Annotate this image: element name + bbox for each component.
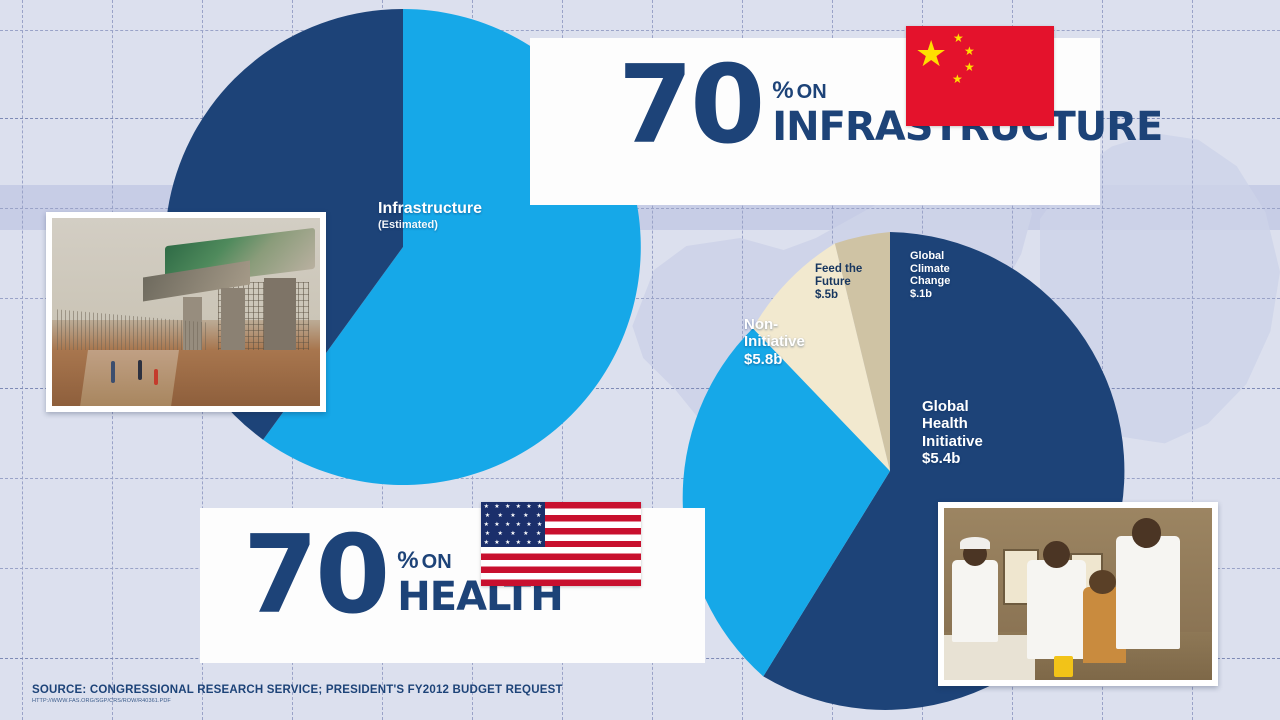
pie-label-gcc-l2: Climate (910, 263, 950, 275)
source-text: SOURCE: CONGRESSIONAL RESEARCH SERVICE; … (32, 684, 563, 696)
stat-infrastructure-on: ON (797, 81, 827, 103)
pie-label-feed-the-future-l2: Future (815, 276, 851, 288)
stat-infrastructure: 70 %ON INFRASTRUCTURE (618, 60, 1162, 153)
pie-label-gcc-value: $.1b (910, 288, 932, 300)
pie-label-ghi-value: $5.4b (922, 450, 960, 467)
infographic-canvas: Infrastructure (Estimated) Non- Initiati… (0, 0, 1280, 720)
china-flag-star-3: ★ (964, 61, 975, 73)
pie-label-global-health-initiative: Global Health Initiative $5.4b (922, 398, 983, 467)
source-credit: SOURCE: CONGRESSIONAL RESEARCH SERVICE; … (32, 684, 563, 704)
china-flag-star-4: ★ (952, 73, 963, 85)
china-flag-star-1: ★ (953, 32, 964, 44)
china-flag-star-2: ★ (964, 45, 975, 57)
pie-label-non-initiative-value: $5.8b (744, 351, 782, 368)
pie-label-feed-the-future-l1: Feed the (815, 263, 862, 275)
pie-label-non-initiative-l1: Non- (744, 316, 778, 333)
pie-label-ghi-l3: Initiative (922, 433, 983, 450)
pie-label-ghi-l1: Global (922, 398, 969, 415)
stat-infrastructure-percent: % (772, 77, 793, 104)
pie-label-ghi-l2: Health (922, 415, 968, 432)
pie-label-infrastructure-title: Infrastructure (378, 200, 482, 217)
pie-label-feed-the-future: Feed the Future $.5b (815, 263, 862, 303)
source-url[interactable]: HTTP://WWW.FAS.ORG/SGP/CRS/ROW/R40361.PD… (32, 698, 563, 704)
stat-health-number: 70 (243, 530, 387, 623)
pie-label-feed-the-future-value: $.5b (815, 289, 838, 301)
health-clinic-image (944, 508, 1212, 680)
health-clinic-photo (938, 502, 1218, 686)
pie-label-non-initiative: Non- Initiative $5.8b (744, 316, 805, 368)
construction-bridge-photo-inner (52, 218, 320, 406)
pie-label-non-initiative-l2: Initiative (744, 333, 805, 350)
china-flag-star-large: ★ (915, 36, 947, 72)
usa-flag: ★★★★★★ ★★★★★ ★★★★★★ ★★★★★ ★★★★★★ (481, 502, 641, 586)
usa-flag-canton: ★★★★★★ ★★★★★ ★★★★★★ ★★★★★ ★★★★★★ (481, 502, 545, 547)
pie-label-gcc-l3: Change (910, 275, 950, 287)
pie-label-infrastructure: Infrastructure (Estimated) (378, 200, 482, 232)
pie-label-gcc-l1: Global (910, 250, 944, 262)
pie-label-infrastructure-sub: (Estimated) (378, 219, 482, 232)
stat-infrastructure-number: 70 (618, 60, 762, 153)
stat-health-percent: % (397, 547, 418, 574)
china-flag: ★ ★ ★ ★ ★ (906, 26, 1054, 126)
construction-bridge-image (52, 218, 320, 406)
construction-bridge-photo (46, 212, 326, 412)
pie-label-global-climate-change: Global Climate Change $.1b (910, 250, 950, 301)
stat-health-on: ON (422, 551, 452, 573)
health-clinic-photo-inner (944, 508, 1212, 680)
